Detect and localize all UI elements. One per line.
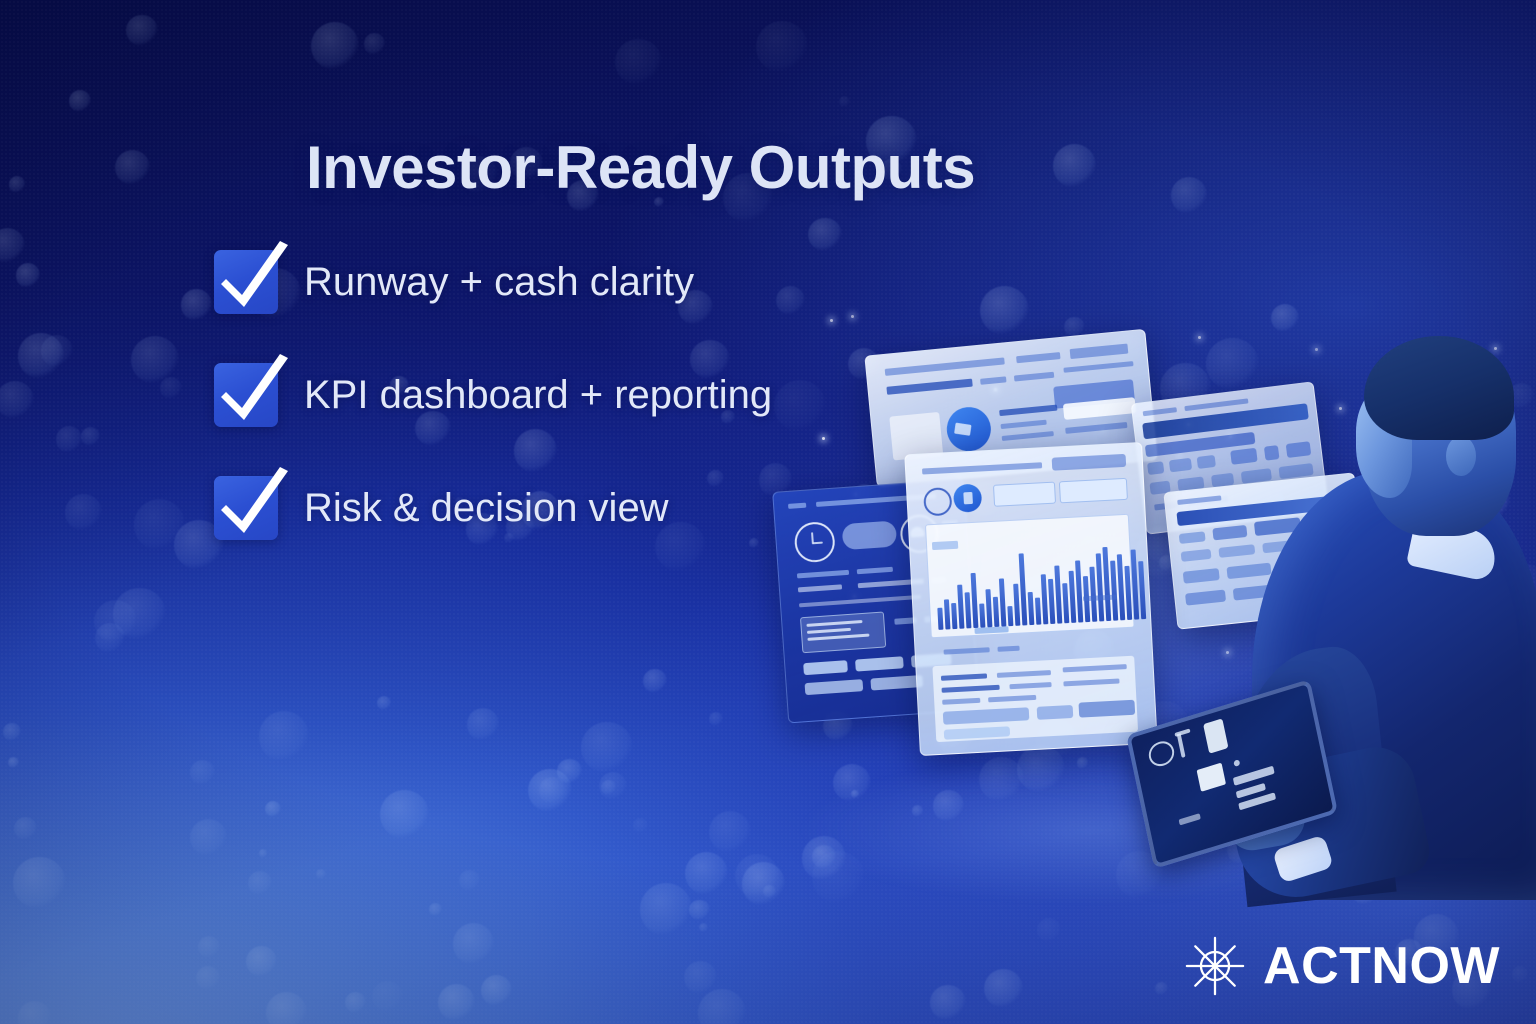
checkbox-checked [214, 476, 278, 540]
hair [1364, 336, 1514, 440]
bar-chart-panel-center [904, 442, 1157, 756]
hero-illustration [740, 300, 1536, 890]
list-item: Runway + cash clarity [214, 250, 772, 314]
checkbox-checked [214, 250, 278, 314]
list-item: Risk & decision view [214, 476, 772, 540]
marketing-slide: Investor-Ready Outputs Runway + cash cla… [0, 0, 1536, 1024]
checkmark-icon [218, 465, 290, 541]
list-item-label: Runway + cash clarity [304, 260, 694, 305]
checkbox-checked [214, 363, 278, 427]
list-item: KPI dashboard + reporting [214, 363, 772, 427]
gauge-icon [923, 487, 952, 516]
page-title: Investor-Ready Outputs [306, 133, 975, 202]
list-item-label: Risk & decision view [304, 486, 669, 531]
ear [1446, 436, 1476, 476]
list-item-label: KPI dashboard + reporting [304, 373, 772, 418]
ships-wheel-icon [1185, 936, 1245, 996]
benefits-checklist: Runway + cash clarity KPI dashboard + re… [214, 250, 772, 540]
checkmark-icon [218, 239, 290, 315]
brand-name: ACTNOW [1263, 940, 1500, 992]
bar-chart [934, 535, 1146, 630]
checkmark-icon [218, 352, 290, 428]
businessman-figure [1214, 340, 1536, 900]
brand-logo: ACTNOW [1185, 936, 1500, 996]
